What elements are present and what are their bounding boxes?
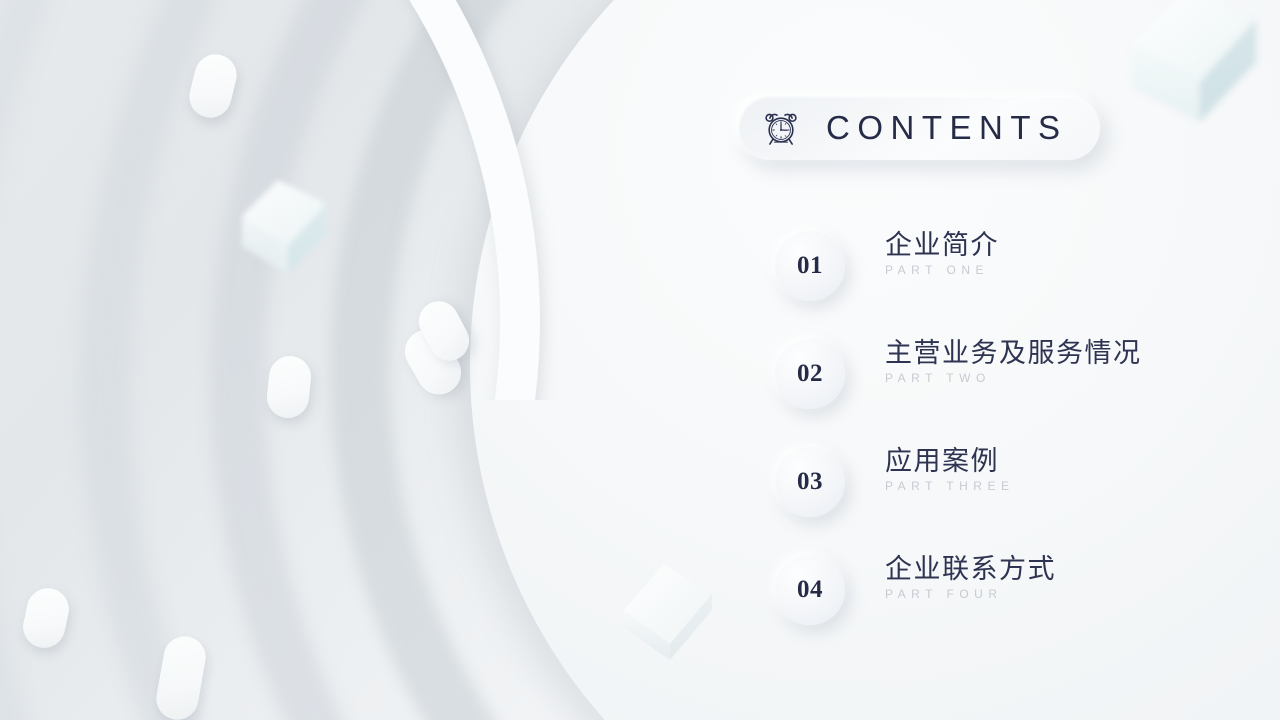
- table-of-contents: 01 企业简介 PART ONE 02 主营业务及服务情况 PART TWO 0…: [775, 228, 1245, 660]
- toc-item-title-cn: 主营业务及服务情况: [885, 336, 1142, 370]
- white-arc-d-cap: [19, 584, 73, 651]
- white-arc-d: [0, 560, 260, 720]
- toc-item-text-group: 企业简介 PART ONE: [885, 228, 999, 277]
- cube-icon-top-right: [1128, 0, 1280, 124]
- contents-header-pill: CONTENTS: [738, 96, 1100, 160]
- toc-item-title-en: PART FOUR: [885, 587, 1056, 601]
- toc-item-title-cn: 应用案例: [885, 444, 1014, 478]
- toc-item-02[interactable]: 02 主营业务及服务情况 PART TWO: [775, 336, 1245, 444]
- toc-item-title-cn: 企业简介: [885, 228, 999, 262]
- toc-number-label: 02: [797, 360, 823, 388]
- toc-item-text-group: 企业联系方式 PART FOUR: [885, 552, 1056, 601]
- toc-item-title-en: PART TWO: [885, 371, 1142, 385]
- toc-number-badge[interactable]: 02: [775, 339, 845, 409]
- white-arc-a-cap-bottom: [397, 322, 469, 403]
- white-arc-a-cap-top: [185, 50, 241, 122]
- toc-item-title-en: PART ONE: [885, 263, 999, 277]
- toc-number-label: 03: [797, 468, 823, 496]
- cube-icon-bottom: [608, 548, 728, 663]
- alarm-clock-icon: [760, 107, 802, 149]
- toc-number-badge[interactable]: 03: [775, 447, 845, 517]
- toc-item-title-en: PART THREE: [885, 479, 1014, 493]
- toc-item-03[interactable]: 03 应用案例 PART THREE: [775, 444, 1245, 552]
- contents-title: CONTENTS: [826, 109, 1068, 147]
- white-arc-e-cap: [153, 633, 209, 720]
- toc-number-label: 04: [797, 576, 823, 604]
- toc-number-badge[interactable]: 01: [775, 231, 845, 301]
- toc-item-01[interactable]: 01 企业简介 PART ONE: [775, 228, 1245, 336]
- cube-icon-left: [238, 176, 348, 276]
- white-arc-b: [330, 0, 620, 380]
- toc-item-text-group: 主营业务及服务情况 PART TWO: [885, 336, 1142, 385]
- toc-number-badge[interactable]: 04: [775, 555, 845, 625]
- white-arc-a-upper: [0, 0, 640, 400]
- white-arc-c-cap-top: [265, 354, 313, 420]
- presentation-slide: CONTENTS 01 企业简介 PART ONE 02 主营业务及服务情况 P…: [0, 0, 1280, 720]
- toc-item-title-cn: 企业联系方式: [885, 552, 1056, 586]
- toc-number-label: 01: [797, 252, 823, 280]
- white-arc-c: [220, 350, 640, 720]
- toc-item-text-group: 应用案例 PART THREE: [885, 444, 1014, 493]
- white-arc-b-cap: [412, 294, 476, 368]
- toc-item-04[interactable]: 04 企业联系方式 PART FOUR: [775, 552, 1245, 660]
